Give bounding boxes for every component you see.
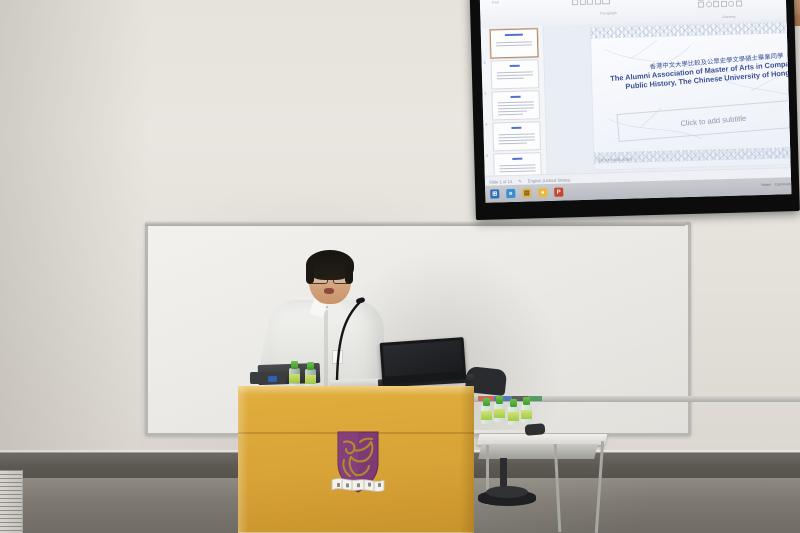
side-table-apron [478, 444, 598, 459]
thumb-line [498, 104, 534, 106]
projected-desktop: Font Paragraph Drawing [480, 0, 792, 203]
thumb-line [500, 167, 536, 169]
slide-thumbnail-3[interactable] [491, 90, 540, 120]
slide-counter[interactable]: Slide 1 of 14 [489, 178, 512, 184]
crest-scroll-banner [332, 479, 384, 492]
thumb-line [497, 78, 524, 80]
slide-canvas[interactable]: 香港中文大學比較及公眾史學文學碩士畢業同學 The Alumni Associa… [544, 19, 791, 174]
align-left-icon[interactable] [572, 0, 578, 5]
system-tray[interactable]: Notes Comments [761, 182, 791, 187]
thumb-number-3: 3 [484, 92, 486, 96]
lectern-left-highlight [238, 386, 248, 533]
slide-thumbnail-4[interactable] [492, 121, 541, 151]
start-button[interactable]: ⊞ [490, 189, 499, 198]
shape-cube-icon[interactable] [736, 0, 742, 6]
thumb-line [496, 41, 532, 43]
file-explorer-icon[interactable]: ▤ [522, 188, 531, 197]
thumb-title-bar [512, 158, 522, 161]
ribbon-group-paragraph: Paragraph [600, 11, 617, 15]
microphone [330, 300, 366, 382]
shirt-placket [324, 310, 328, 388]
thumb-title-bar [510, 65, 520, 68]
thumb-line [500, 170, 536, 172]
powerpoint-icon[interactable]: P [554, 188, 563, 197]
lectern-top-edge [238, 386, 474, 395]
water-bottle [494, 396, 505, 422]
edge-icon[interactable]: e [506, 189, 515, 198]
shape-star-icon[interactable] [713, 1, 719, 7]
thumb-title-bar [511, 127, 521, 130]
language-indicator[interactable]: English (United States) [528, 177, 571, 183]
presenter-hair-right [345, 262, 353, 284]
shape-donut-icon[interactable] [728, 1, 734, 7]
subtitle-placeholder-text: Click to add subtitle [680, 113, 746, 127]
thumb-line [498, 111, 527, 113]
wall-shadow-left [0, 0, 150, 452]
pencil-pouch [525, 423, 546, 436]
projection-screen: Font Paragraph Drawing [470, 0, 800, 220]
slide-thumbnail-2[interactable] [491, 59, 540, 89]
tray-comments-label[interactable]: Comments [775, 182, 792, 186]
chair-base-top [486, 486, 528, 498]
chrome-icon[interactable]: ● [538, 188, 547, 197]
thumb-number-4: 4 [485, 123, 487, 127]
lectern-right-shadow [460, 386, 474, 533]
justify-icon[interactable] [595, 0, 601, 5]
water-bottle [481, 398, 492, 424]
av-equipment-indicator [268, 376, 277, 382]
whiteboard-frame-top [145, 222, 685, 226]
thumb-line [497, 71, 533, 73]
thumb-number-2: 2 [484, 61, 486, 65]
ribbon-group-drawing: Drawing [722, 15, 735, 19]
current-slide[interactable]: 香港中文大學比較及公眾史學文學碩士畢業同學 The Alumni Associa… [590, 20, 792, 171]
wall-vent-louvers [0, 470, 22, 533]
thumb-line [496, 44, 532, 46]
cuhk-crest [330, 430, 386, 502]
tray-notes-label[interactable]: Notes [761, 183, 770, 187]
thumb-line [499, 143, 527, 145]
align-right-icon[interactable] [587, 0, 593, 5]
align-center-icon[interactable] [579, 0, 585, 5]
laptop-screen [383, 340, 463, 376]
presenter-mouth [324, 288, 334, 294]
thumb-line [498, 114, 523, 116]
water-bottle [305, 362, 316, 388]
water-bottle [521, 397, 532, 423]
shape-flowchart-icon[interactable] [698, 2, 704, 8]
slide-thumbnail-5[interactable] [493, 152, 542, 176]
thumb-line [498, 101, 534, 103]
thumb-line [499, 164, 535, 166]
thumb-line [498, 107, 534, 109]
line-spacing-icon[interactable] [602, 0, 610, 4]
water-bottle [508, 399, 519, 425]
thumb-title-bar [511, 96, 521, 99]
shape-callout-icon[interactable] [706, 1, 712, 7]
laptop[interactable] [380, 337, 467, 385]
thumb-line [499, 133, 535, 135]
notes-placeholder[interactable]: Click to add notes [597, 157, 632, 163]
water-bottle [289, 361, 300, 387]
presenter-hair-left [306, 262, 314, 284]
thumb-number-5: 5 [486, 154, 488, 158]
shape-banner-icon[interactable] [721, 1, 727, 7]
thumb-title-bar [505, 34, 523, 37]
slide-thumbnail-1[interactable] [490, 28, 539, 58]
lecture-hall-photo: Font Paragraph Drawing [0, 0, 800, 533]
thumb-line [499, 136, 535, 138]
slide-thumbnail-panel[interactable]: 2 3 4 [481, 26, 548, 176]
thumb-line [497, 74, 533, 76]
ribbon-group-font: Font [492, 0, 499, 4]
thumb-line [499, 139, 535, 141]
spellcheck-icon[interactable]: ✎ [518, 178, 522, 183]
